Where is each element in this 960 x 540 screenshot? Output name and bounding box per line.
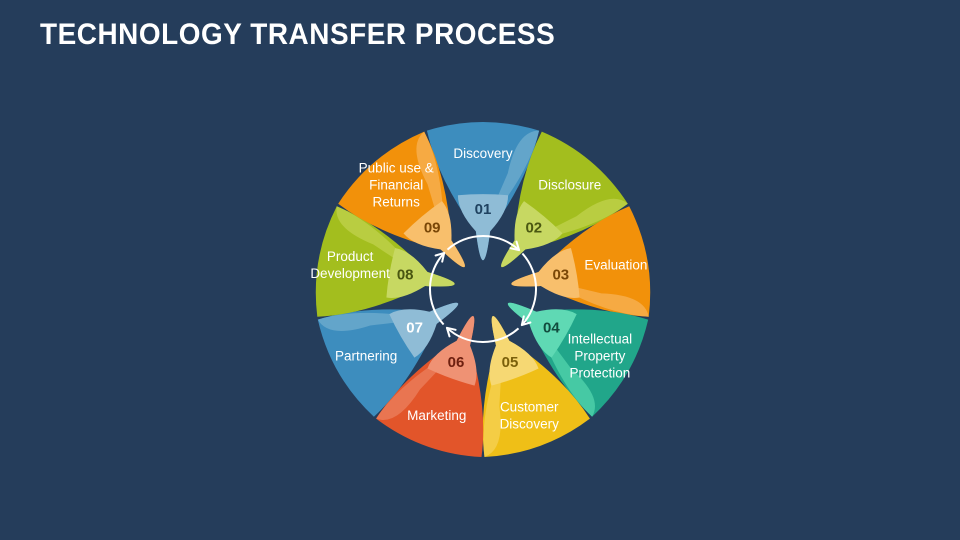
petal-number-01: 01 — [475, 201, 492, 218]
petal-label-06: Marketing — [407, 407, 466, 422]
petal-number-02: 02 — [525, 219, 542, 236]
petal-number-03: 03 — [552, 266, 569, 283]
petal-label-01: Discovery — [453, 146, 513, 161]
petal-number-05: 05 — [502, 354, 519, 371]
petal-number-06: 06 — [448, 354, 465, 371]
petal-label-04: IntellectualPropertyProtection — [568, 331, 633, 380]
petal-tip-03 — [511, 248, 579, 298]
petal-label-03: Evaluation — [584, 257, 647, 272]
petal-number-08: 08 — [397, 266, 414, 283]
petal-number-04: 04 — [543, 319, 560, 336]
petal-label-02: Disclosure — [538, 177, 601, 192]
technology-transfer-petal-diagram: 01Discovery02Disclosure03Evaluation04Int… — [0, 0, 960, 540]
slide-canvas: TECHNOLOGY TRANSFER PROCESS 01Discovery0… — [0, 0, 960, 540]
petal-label-07: Partnering — [335, 348, 397, 363]
petal-number-09: 09 — [424, 219, 441, 236]
petal-number-07: 07 — [406, 319, 423, 336]
